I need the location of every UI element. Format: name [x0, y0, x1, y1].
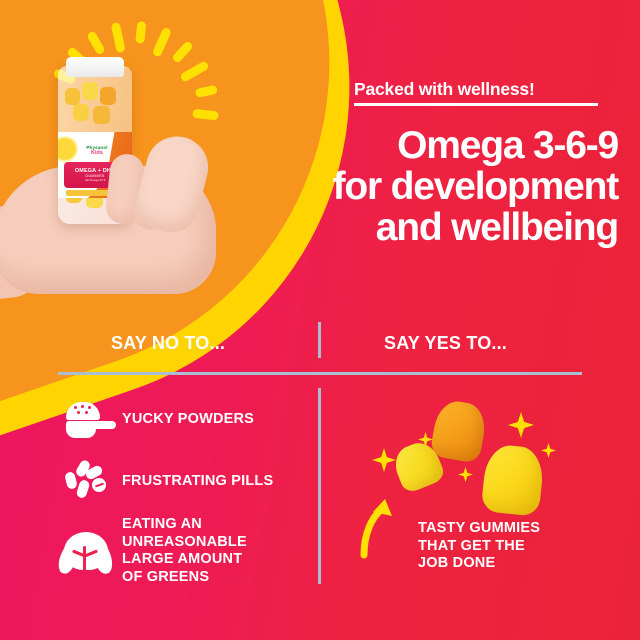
- powder-dot: [74, 406, 77, 409]
- scoop-base: [66, 421, 96, 438]
- bottle-gummy: [82, 82, 98, 100]
- bottle-gummy: [73, 104, 89, 121]
- list-item: YUCKY POWDERS: [56, 394, 254, 446]
- powder-dot: [88, 406, 91, 409]
- list-item-label: YUCKY POWDERS: [122, 411, 254, 429]
- powder-dot: [81, 405, 84, 408]
- hand-holding-bottle: Physanol Kids OMEGA + DHA GUMMIES with O…: [0, 58, 242, 308]
- brand-logo: Physanol Kids: [74, 145, 120, 156]
- sparkle-icon: [372, 448, 396, 472]
- sparkle-icon: [541, 443, 556, 458]
- vertical-divider-bottom: [318, 388, 321, 584]
- powder-dot: [77, 411, 80, 414]
- list-item-label: FRUSTRATING PILLS: [122, 473, 273, 491]
- say-yes-heading: SAY YES TO...: [384, 333, 507, 354]
- horizontal-divider: [58, 372, 582, 375]
- greens-icon: [56, 520, 116, 582]
- vertical-divider-top: [318, 322, 321, 358]
- starburst-ray: [152, 27, 172, 58]
- capsule-shape: [75, 479, 90, 499]
- list-item-label: EATING AN UNREASONABLE LARGE AMOUNT OF G…: [122, 516, 247, 586]
- bottle-gummy: [65, 88, 80, 105]
- promo-poster: Physanol Kids OMEGA + DHA GUMMIES with O…: [0, 0, 640, 640]
- headline-line-1: Omega 3-6-9: [397, 124, 618, 167]
- powder-dot: [85, 411, 88, 414]
- sparkle-icon: [508, 412, 534, 438]
- bottle-cap: [66, 57, 124, 77]
- headline-line-3: and wellbeing: [376, 206, 618, 249]
- eyebrow-text: Packed with wellness!: [354, 79, 535, 100]
- say-no-heading: SAY NO TO...: [111, 333, 225, 354]
- greens-leaf: [56, 541, 79, 576]
- eyebrow-underline: [354, 103, 598, 106]
- scoop-handle: [94, 421, 116, 429]
- greens-stem: [83, 546, 86, 574]
- list-item: FRUSTRATING PILLS: [56, 456, 273, 508]
- pills-icon: [56, 456, 116, 508]
- bottle-gummy: [100, 87, 116, 105]
- list-item: EATING AN UNREASONABLE LARGE AMOUNT OF G…: [56, 516, 247, 586]
- brand-sub: Kids: [91, 150, 103, 156]
- starburst-ray: [135, 21, 146, 44]
- page-title: Omega 3-6-9 for development and wellbein…: [318, 125, 618, 248]
- curved-arrow-icon: [358, 497, 408, 559]
- yes-item-label: TASTY GUMMIES THAT GET THE JOB DONE: [418, 520, 540, 573]
- headline-line-2: for development: [333, 165, 618, 208]
- starburst-ray: [111, 22, 126, 53]
- label-detail: with Omega 3 6 9: [85, 179, 105, 182]
- starburst-ray: [86, 30, 106, 55]
- greens-leaf: [91, 539, 115, 576]
- sparkle-icon: [458, 467, 473, 482]
- gummy-orange: [429, 398, 488, 464]
- bottle-gummy: [93, 106, 110, 124]
- gummy-yellow: [481, 443, 546, 517]
- label-strip: [66, 190, 110, 196]
- powder-scoop-icon: [56, 394, 116, 446]
- label-subtitle: GUMMIES: [85, 174, 104, 178]
